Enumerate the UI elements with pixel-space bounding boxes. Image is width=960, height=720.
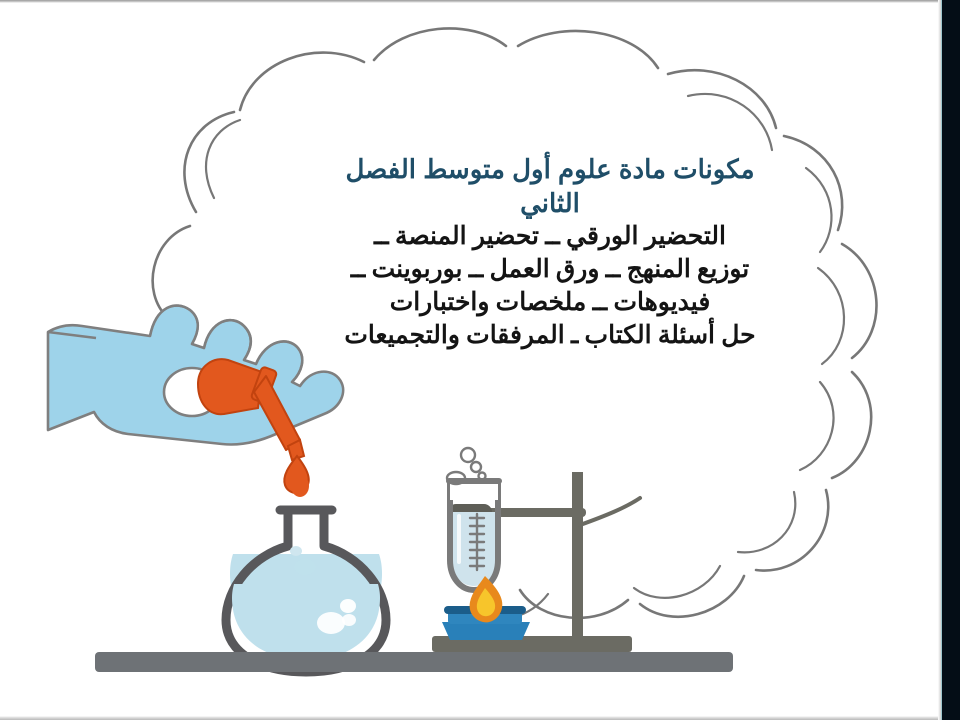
slide-text-block: مكونات مادة علوم أول متوسط الفصل الثاني …	[230, 152, 870, 352]
slide-top-edge	[0, 0, 960, 3]
pipette-dropper-icon	[198, 359, 309, 497]
slide-body-line-3: فيديوهات ــ ملخصات واختبارات	[230, 286, 870, 319]
ring-stand-icon	[432, 472, 640, 652]
test-tube-icon	[446, 448, 502, 590]
slide-title-line-2: الثاني	[230, 186, 870, 220]
lab-illustration	[0, 0, 960, 720]
slide-right-dark-band	[942, 0, 960, 720]
bubbles-icon	[447, 448, 486, 484]
slide-body-line-2: توزيع المنهج ــ ورق العمل ــ بوربوينت ــ	[230, 253, 870, 286]
slide-body-line-4: حل أسئلة الكتاب ـ المرفقات والتجميعات	[230, 319, 870, 352]
spirit-burner-icon	[442, 576, 530, 640]
liquid-drop-icon	[284, 456, 308, 493]
slide-canvas: مكونات مادة علوم أول متوسط الفصل الثاني …	[0, 0, 960, 720]
liquid-drop-falling-icon	[291, 475, 309, 497]
lab-bench-icon	[95, 652, 733, 672]
cloud-callout	[0, 0, 960, 720]
flame-icon	[470, 576, 503, 622]
slide-body-line-1: التحضير الورقي ــ تحضير المنصة ــ	[230, 220, 870, 253]
round-flask-icon	[226, 510, 386, 672]
slide-title-line-1: مكونات مادة علوم أول متوسط الفصل	[230, 152, 870, 186]
slide-bottom-edge	[0, 716, 960, 720]
